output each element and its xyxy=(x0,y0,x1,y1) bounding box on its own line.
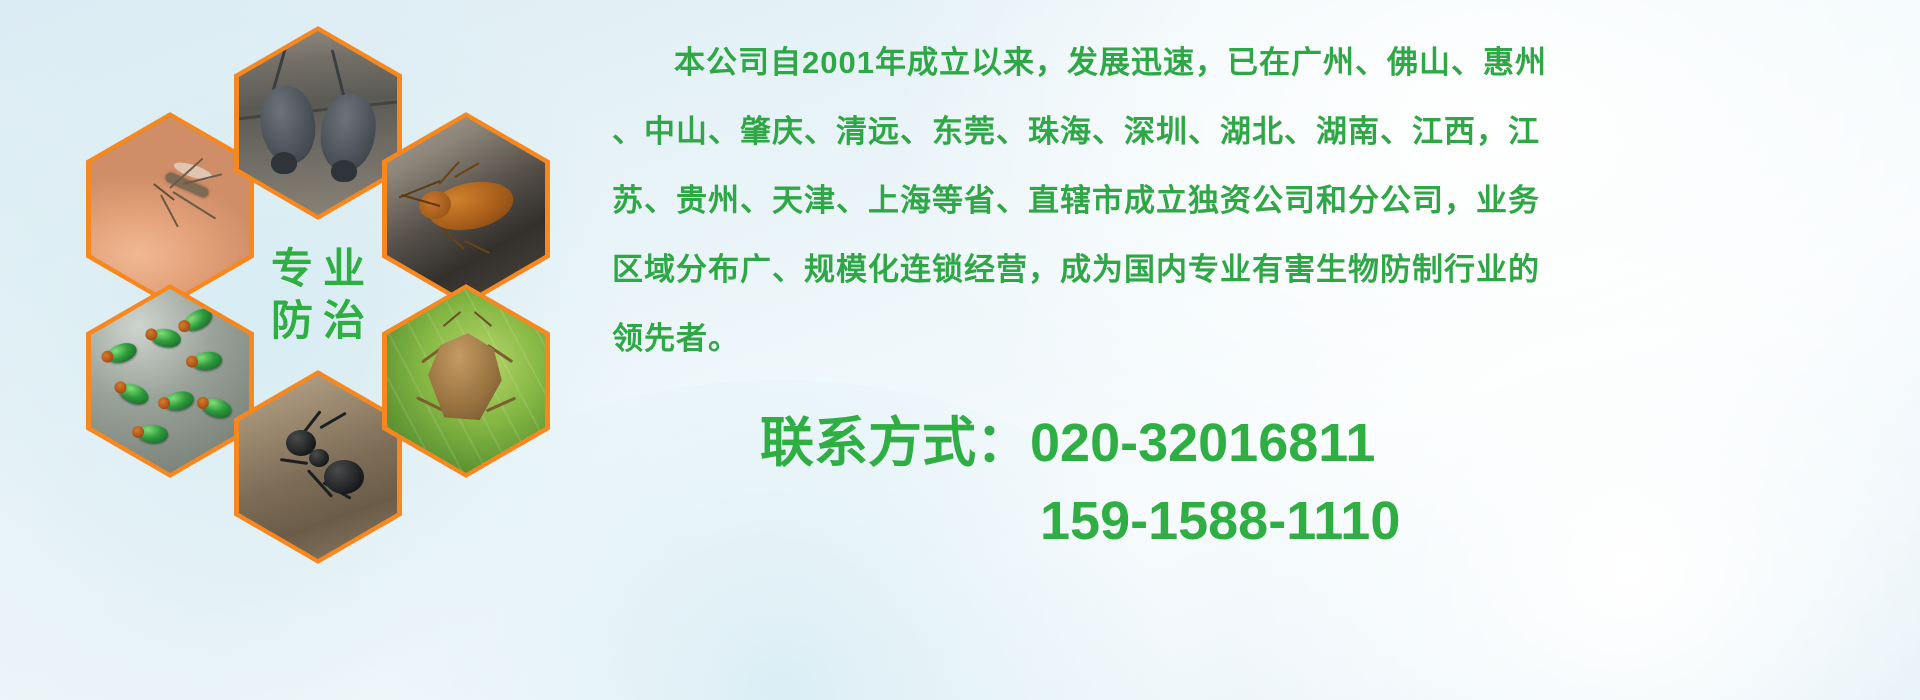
honeycomb-photo-cluster: 专业 防治 xyxy=(86,8,586,568)
hex-cell-flies-photo xyxy=(86,284,254,478)
intro-line-4: 区域分布广、规模化连锁经营，成为国内专业有害生物防制行业的 xyxy=(612,241,1902,298)
hex-cell-stinkbug-photo xyxy=(382,284,550,478)
hex-cell-rats-photo xyxy=(234,26,402,220)
intro-line-1: 本公司自2001年成立以来，发展迅速，已在广州、佛山、惠州 xyxy=(612,34,1902,91)
contact-phone-primary[interactable]: 联系方式：020-32016811 xyxy=(760,404,1860,482)
hex-cell-cockroach-photo xyxy=(382,112,550,306)
logo-line-2: 防治 xyxy=(261,299,375,343)
hex-cell-logo-text: 专业 防治 xyxy=(234,198,402,392)
hex-cell-ant-photo xyxy=(234,370,402,564)
hex-cell-mosquito-photo xyxy=(86,112,254,306)
intro-line-2: 、中山、肇庆、清远、东莞、珠海、深圳、湖北、湖南、江西，江 xyxy=(612,103,1902,160)
logo-line-1: 专业 xyxy=(261,247,375,291)
company-intro-paragraph: 本公司自2001年成立以来，发展迅速，已在广州、佛山、惠州 、中山、肇庆、清远、… xyxy=(612,34,1902,379)
intro-line-5: 领先者。 xyxy=(612,310,1902,367)
logo-text-block: 专业 防治 xyxy=(234,198,402,392)
promo-banner: 专业 防治 xyxy=(0,0,1920,700)
intro-line-3: 苏、贵州、天津、上海等省、直辖市成立独资公司和分公司，业务 xyxy=(612,172,1902,229)
contact-block: 联系方式：020-32016811 159-1588-1110 xyxy=(760,404,1860,560)
contact-phone-secondary[interactable]: 159-1588-1110 xyxy=(760,482,1860,560)
